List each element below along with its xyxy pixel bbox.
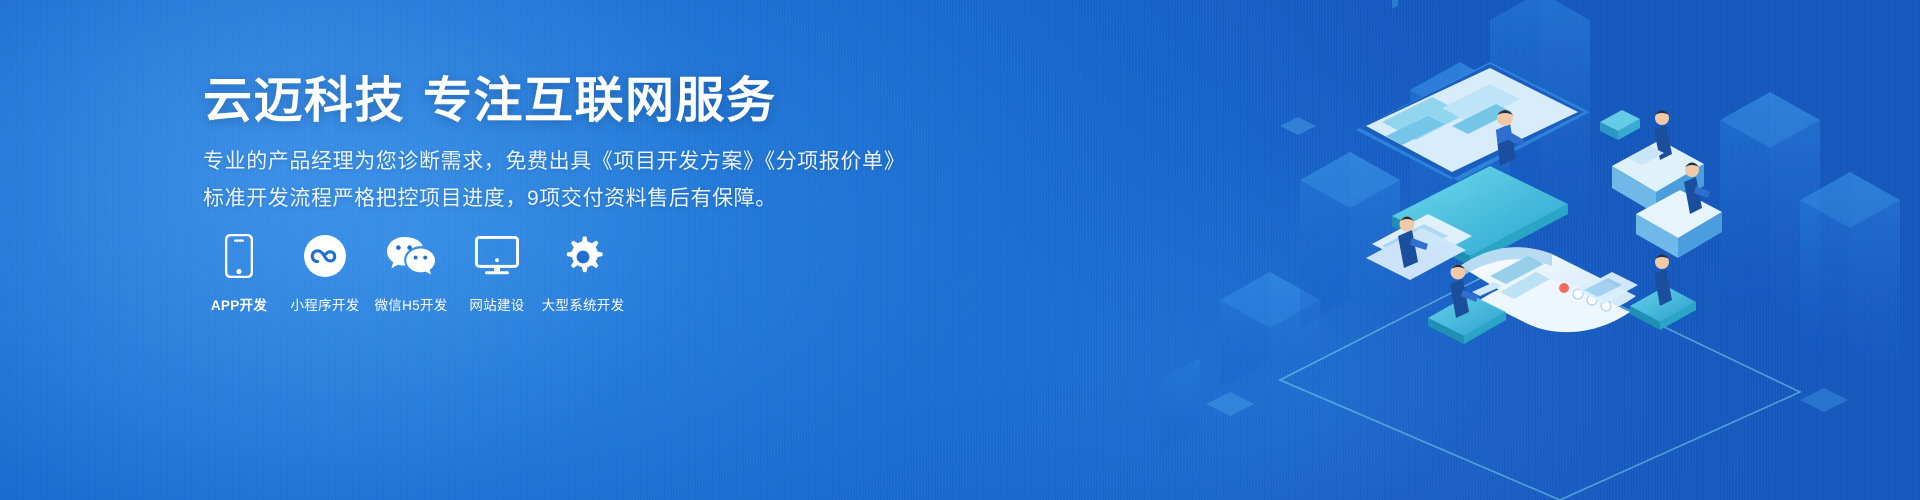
isometric-illustration (1160, 0, 1920, 500)
service-icon-row: APP开发 小程序开发 (203, 230, 633, 314)
page-title: 云迈科技专注互联网服务 (203, 74, 777, 129)
service-item-miniprogram[interactable]: 小程序开发 (289, 230, 361, 314)
mini-program-icon (303, 230, 347, 282)
service-label-app: APP开发 (211, 294, 267, 314)
service-item-wechat-h5[interactable]: 微信H5开发 (375, 230, 447, 314)
monitor-icon (475, 230, 519, 282)
service-item-app[interactable]: APP开发 (203, 230, 275, 314)
subtitle-line-1: 专业的产品经理为您诊断需求，免费出具《项目开发方案》《分项报价单》 (203, 145, 905, 175)
hero-banner: 云迈科技专注互联网服务 专业的产品经理为您诊断需求，免费出具《项目开发方案》《分… (0, 0, 1920, 500)
service-item-website[interactable]: 网站建设 (461, 230, 533, 314)
wechat-icon (386, 230, 436, 282)
service-label-miniprogram: 小程序开发 (291, 294, 360, 314)
service-label-wechat-h5: 微信H5开发 (374, 294, 447, 314)
subtitle-line-2: 标准开发流程严格把控项目进度，9项交付资料售后有保障。 (203, 182, 777, 212)
mobile-phone-icon (225, 230, 253, 282)
service-label-website: 网站建设 (469, 294, 524, 314)
banner-content: 云迈科技专注互联网服务 专业的产品经理为您诊断需求，免费出具《项目开发方案》《分… (203, 0, 923, 500)
service-label-large-system: 大型系统开发 (542, 294, 625, 314)
gear-icon (561, 230, 605, 282)
service-item-large-system[interactable]: 大型系统开发 (547, 230, 619, 314)
headline-brand: 云迈科技 (203, 74, 405, 128)
headline-tagline: 专注互联网服务 (423, 74, 777, 128)
